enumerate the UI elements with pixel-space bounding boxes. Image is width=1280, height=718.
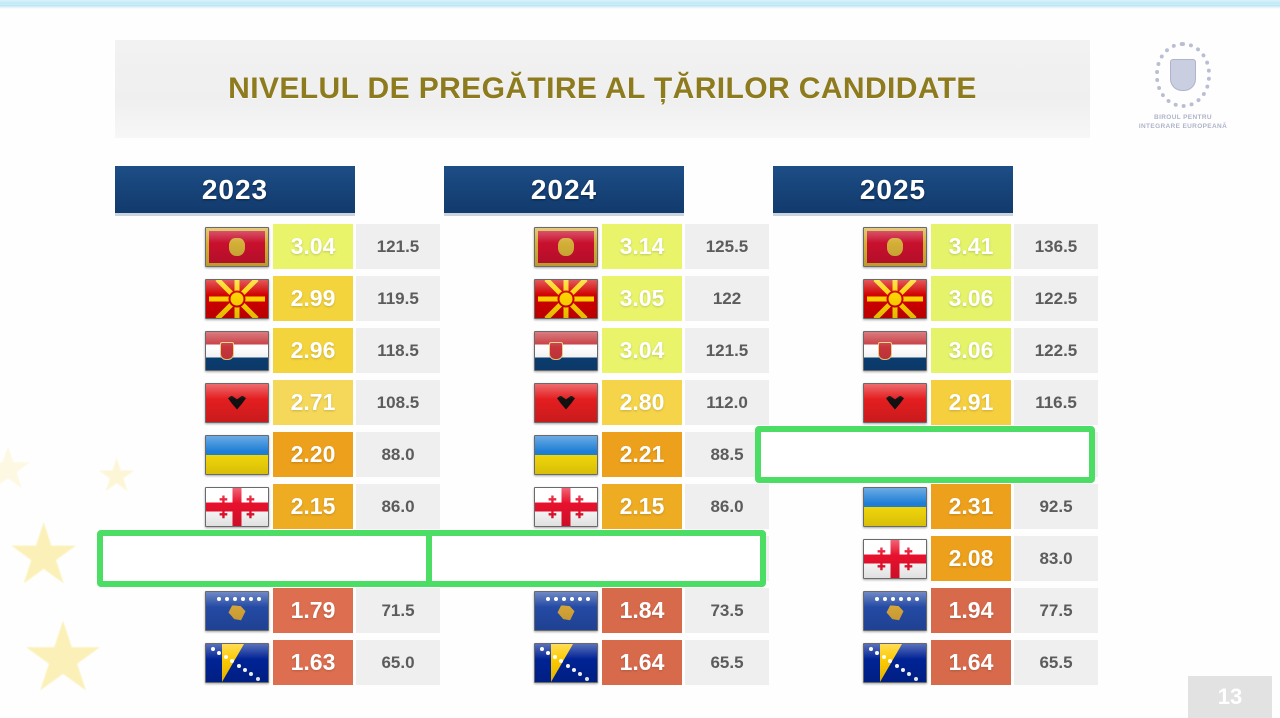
- flag-ba-icon: [863, 643, 927, 683]
- organization-logo: BIROUL PENTRU INTEGRARE EUROPEANĂ: [1127, 36, 1239, 141]
- flag-me-icon: [534, 227, 598, 267]
- row-spacer: [444, 640, 530, 685]
- index-cell: 119.5: [356, 276, 440, 321]
- flag-xk-icon: [205, 591, 269, 631]
- index-cell: 77.5: [1014, 588, 1098, 633]
- flag-mk-icon: [863, 279, 927, 319]
- flag-mk-icon: [534, 279, 598, 319]
- row-spacer: [444, 224, 530, 269]
- index-cell: 65.0: [356, 640, 440, 685]
- logo-caption: BIROUL PENTRU INTEGRARE EUROPEANĂ: [1139, 113, 1227, 131]
- flag-cell: [530, 380, 602, 425]
- row-spacer: [444, 380, 530, 425]
- table-row: 1.6365.0: [115, 640, 355, 685]
- row-spacer: [444, 484, 530, 529]
- score-cell: 2.20: [273, 432, 353, 477]
- year-header-2025: 2025: [773, 166, 1013, 213]
- row-spacer: [773, 224, 859, 269]
- score-cell: 3.06: [931, 328, 1011, 373]
- index-cell: 122: [685, 276, 769, 321]
- row-spacer: [115, 432, 201, 477]
- decorative-star-icon: ★: [20, 610, 106, 706]
- flag-cell: [530, 588, 602, 633]
- flag-cell: [859, 432, 931, 477]
- table-row: 1.9477.5: [773, 588, 1013, 633]
- index-cell: 71.5: [356, 588, 440, 633]
- score-cell: 2.99: [273, 276, 353, 321]
- table-row: 3.06122.5: [773, 276, 1013, 321]
- index-cell: 92.5: [1014, 484, 1098, 529]
- row-spacer: [444, 432, 530, 477]
- row-spacer: [773, 536, 859, 581]
- index-cell: 125.5: [685, 224, 769, 269]
- top-accent-strip-inner: [0, 5, 1280, 9]
- row-spacer: [115, 380, 201, 425]
- row-spacer: [444, 276, 530, 321]
- table-row: 1.9979.5: [444, 536, 684, 581]
- flag-ua-icon: [205, 435, 269, 475]
- flag-cell: [201, 380, 273, 425]
- score-cell: 1.64: [931, 640, 1011, 685]
- score-cell: 2.31: [931, 484, 1011, 529]
- flag-me-icon: [863, 227, 927, 267]
- flag-ge-icon: ✚✚✚✚: [205, 487, 269, 527]
- row-spacer: [115, 588, 201, 633]
- table-row: 2.2088.0: [115, 432, 355, 477]
- score-cell: 2.38: [931, 432, 1011, 477]
- row-spacer: [115, 484, 201, 529]
- flag-cell: [201, 224, 273, 269]
- flag-cell: [859, 328, 931, 373]
- table-row: 2.71108.5: [115, 380, 355, 425]
- table-row: ✚✚✚✚2.1586.0: [115, 484, 355, 529]
- row-spacer: [773, 588, 859, 633]
- flag-cell: [859, 276, 931, 321]
- flag-cell: [859, 224, 931, 269]
- table-row: 1.6465.5: [444, 640, 684, 685]
- row-spacer: [773, 640, 859, 685]
- page-title: NIVELUL DE PREGĂTIRE AL ȚĂRILOR CANDIDAT…: [115, 40, 1090, 138]
- row-spacer: [773, 276, 859, 321]
- score-cell: 2.71: [273, 380, 353, 425]
- score-cell: 2.15: [273, 484, 353, 529]
- flag-al-icon: [534, 383, 598, 423]
- table-row: 3.06122.5: [773, 328, 1013, 373]
- index-cell: 79.5: [685, 536, 769, 581]
- table-row: 3.14125.5: [444, 224, 684, 269]
- row-spacer: [115, 328, 201, 373]
- table-row: 2.99119.5: [115, 276, 355, 321]
- index-cell: 108.5: [356, 380, 440, 425]
- flag-rs-icon: [534, 331, 598, 371]
- table-row: 2.3895: [773, 432, 1013, 477]
- flag-cell: ✚✚✚✚: [201, 484, 273, 529]
- row-spacer: [115, 640, 201, 685]
- index-cell: 73.5: [685, 588, 769, 633]
- year-panel-2023: 20233.04121.52.99119.52.96118.52.71108.5…: [115, 166, 355, 692]
- flag-cell: [859, 588, 931, 633]
- country-rows: 3.14125.53.051223.04121.52.80112.02.2188…: [444, 224, 684, 685]
- flag-xk-icon: [863, 591, 927, 631]
- row-spacer: [115, 276, 201, 321]
- score-cell: 3.14: [602, 224, 682, 269]
- score-cell: 1.99: [602, 536, 682, 581]
- row-spacer: [444, 588, 530, 633]
- score-cell: 3.41: [931, 224, 1011, 269]
- index-cell: 76.5: [356, 536, 440, 581]
- logo-caption-line1: BIROUL PENTRU: [1139, 113, 1227, 122]
- table-row: 3.05122: [444, 276, 684, 321]
- year-header-2024: 2024: [444, 166, 684, 213]
- year-label: 2023: [202, 174, 268, 206]
- page-number-badge: 13: [1188, 676, 1272, 718]
- score-cell: 2.15: [602, 484, 682, 529]
- row-spacer: [115, 536, 201, 581]
- table-row: 2.2188.5: [444, 432, 684, 477]
- index-cell: 116.5: [1014, 380, 1098, 425]
- flag-me-icon: [205, 227, 269, 267]
- year-label: 2025: [860, 174, 926, 206]
- table-row: 1.8473.5: [444, 588, 684, 633]
- year-panel-2024: 20243.14125.53.051223.04121.52.80112.02.…: [444, 166, 684, 692]
- flag-cell: [530, 224, 602, 269]
- index-cell: 88.0: [356, 432, 440, 477]
- slide-canvas: ★ ★ ★ ★ NIVELUL DE PREGĂTIRE AL ȚĂRILOR …: [0, 0, 1280, 718]
- score-cell: 1.94: [931, 588, 1011, 633]
- flag-cell: [201, 588, 273, 633]
- flag-ua-icon: [534, 435, 598, 475]
- row-spacer: [444, 328, 530, 373]
- flag-md-icon: [534, 539, 598, 579]
- score-cell: 2.08: [931, 536, 1011, 581]
- seal-icon: [1155, 42, 1211, 108]
- table-row: ✚✚✚✚2.1586.0: [444, 484, 684, 529]
- score-cell: 3.04: [602, 328, 682, 373]
- table-row: 3.04121.5: [444, 328, 684, 373]
- score-cell: 3.06: [931, 276, 1011, 321]
- flag-cell: [530, 432, 602, 477]
- year-label: 2024: [531, 174, 597, 206]
- table-row: 3.04121.5: [115, 224, 355, 269]
- score-cell: 3.05: [602, 276, 682, 321]
- logo-caption-line2: INTEGRARE EUROPEANĂ: [1139, 122, 1227, 131]
- table-row: 3.41136.5: [773, 224, 1013, 269]
- flag-cell: [530, 536, 602, 581]
- score-cell: 2.91: [931, 380, 1011, 425]
- score-cell: 3.04: [273, 224, 353, 269]
- flag-rs-icon: [863, 331, 927, 371]
- decorative-star-icon: ★: [6, 512, 81, 596]
- index-cell: 86.0: [356, 484, 440, 529]
- table-row: 1.7971.5: [115, 588, 355, 633]
- index-cell: 121.5: [685, 328, 769, 373]
- flag-ba-icon: [205, 643, 269, 683]
- flag-ge-icon: ✚✚✚✚: [863, 539, 927, 579]
- flag-al-icon: [863, 383, 927, 423]
- score-cell: 2.80: [602, 380, 682, 425]
- flag-cell: [859, 484, 931, 529]
- flag-cell: [201, 640, 273, 685]
- year-header-2023: 2023: [115, 166, 355, 213]
- flag-al-icon: [205, 383, 269, 423]
- row-spacer: [115, 224, 201, 269]
- score-cell: 2.96: [273, 328, 353, 373]
- index-cell: 122.5: [1014, 328, 1098, 373]
- score-cell: 1.79: [273, 588, 353, 633]
- score-cell: 1.63: [273, 640, 353, 685]
- flag-cell: [530, 640, 602, 685]
- flag-md-icon: [863, 435, 927, 475]
- flag-ba-icon: [534, 643, 598, 683]
- table-row: 2.96118.5: [115, 328, 355, 373]
- flag-ge-icon: ✚✚✚✚: [534, 487, 598, 527]
- row-spacer: [773, 328, 859, 373]
- flag-cell: [859, 640, 931, 685]
- index-cell: 86.0: [685, 484, 769, 529]
- flag-cell: [530, 276, 602, 321]
- row-spacer: [773, 380, 859, 425]
- flag-cell: [201, 276, 273, 321]
- index-cell: 136.5: [1014, 224, 1098, 269]
- table-row: 2.3192.5: [773, 484, 1013, 529]
- flag-ua-icon: [863, 487, 927, 527]
- flag-cell: [859, 380, 931, 425]
- country-rows: 3.04121.52.99119.52.96118.52.71108.52.20…: [115, 224, 355, 685]
- score-cell: 1.64: [602, 640, 682, 685]
- flag-cell: ✚✚✚✚: [859, 536, 931, 581]
- table-row: ✚✚✚✚2.0883.0: [773, 536, 1013, 581]
- year-panel-2025: 20253.41136.53.06122.53.06122.52.91116.5…: [773, 166, 1013, 692]
- score-cell: 2.21: [602, 432, 682, 477]
- decorative-star-icon: ★: [0, 440, 34, 498]
- index-cell: 121.5: [356, 224, 440, 269]
- index-cell: 88.5: [685, 432, 769, 477]
- index-cell: 95: [1014, 432, 1098, 477]
- index-cell: 65.5: [1014, 640, 1098, 685]
- table-row: 2.80112.0: [444, 380, 684, 425]
- flag-mk-icon: [205, 279, 269, 319]
- index-cell: 118.5: [356, 328, 440, 373]
- table-row: 2.91116.5: [773, 380, 1013, 425]
- row-spacer: [444, 536, 530, 581]
- row-spacer: [773, 484, 859, 529]
- flag-cell: ✚✚✚✚: [530, 484, 602, 529]
- flag-rs-icon: [205, 331, 269, 371]
- flag-cell: [530, 328, 602, 373]
- flag-cell: [201, 328, 273, 373]
- table-row: 1.9176.5: [115, 536, 355, 581]
- table-row: 1.6465.5: [773, 640, 1013, 685]
- row-spacer: [773, 432, 859, 477]
- index-cell: 122.5: [1014, 276, 1098, 321]
- index-cell: 83.0: [1014, 536, 1098, 581]
- flag-md-icon: [205, 539, 269, 579]
- country-rows: 3.41136.53.06122.53.06122.52.91116.52.38…: [773, 224, 1013, 685]
- score-cell: 1.84: [602, 588, 682, 633]
- index-cell: 112.0: [685, 380, 769, 425]
- index-cell: 65.5: [685, 640, 769, 685]
- flag-xk-icon: [534, 591, 598, 631]
- flag-cell: [201, 432, 273, 477]
- flag-cell: [201, 536, 273, 581]
- score-cell: 1.91: [273, 536, 353, 581]
